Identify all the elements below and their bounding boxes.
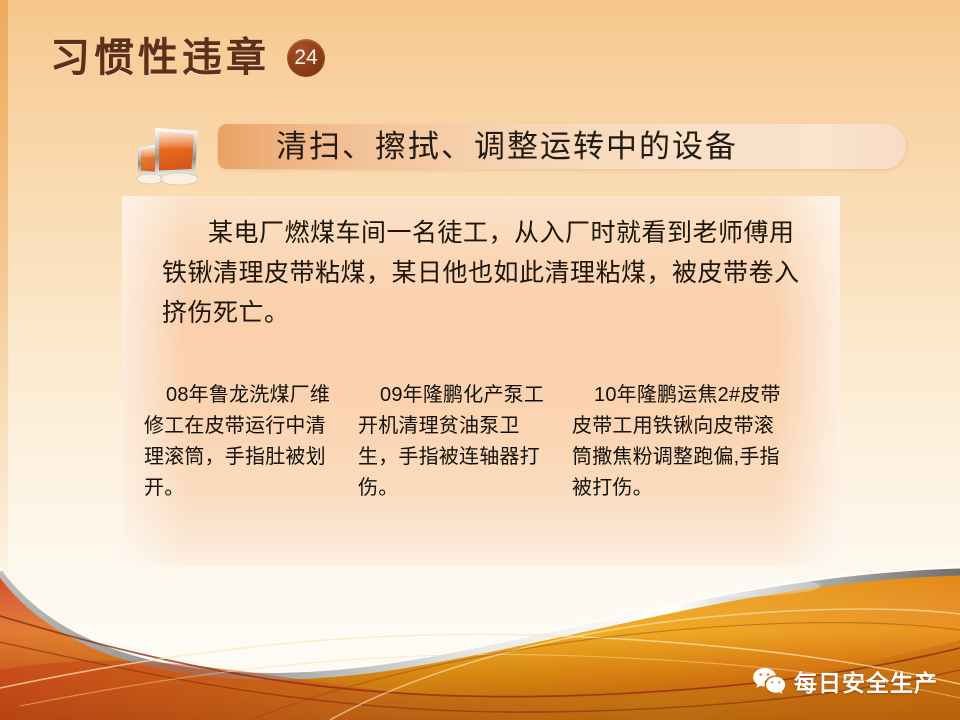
case-columns: 08年鲁龙洗煤厂维修工在皮带运行中清理滚筒，手指肚被划开。 09年隆鹏化产泵工开… bbox=[144, 380, 822, 504]
left-edge-accent-strip bbox=[0, 0, 8, 600]
case-item-1: 08年鲁龙洗煤厂维修工在皮带运行中清理滚筒，手指肚被划开。 bbox=[144, 380, 340, 504]
wechat-icon bbox=[752, 667, 786, 695]
watermark-label: 每日安全生产 bbox=[794, 664, 938, 698]
glossy-screens-icon bbox=[130, 118, 204, 188]
banner-heading: 清扫、擦拭、调整运转中的设备 bbox=[276, 128, 738, 166]
intro-paragraph: 某电厂燃煤车间一名徒工，从入厂时就看到老师傅用铁锹清理皮带粘煤，某日他也如此清理… bbox=[162, 214, 802, 334]
watermark: 每日安全生产 bbox=[752, 664, 938, 698]
banner-row: 清扫、擦拭、调整运转中的设备 bbox=[130, 116, 830, 188]
status-badge: 24 bbox=[287, 39, 325, 77]
slide-header: 习惯性违章 24 bbox=[50, 38, 325, 78]
case-item-3: 10年隆鹏运焦2#皮带皮带工用铁锹向皮带滚筒撒焦粉调整跑偏,手指被打伤。 bbox=[572, 380, 786, 504]
page-title: 习惯性违章 bbox=[50, 38, 270, 78]
content-panel: 某电厂燃煤车间一名徒工，从入厂时就看到老师傅用铁锹清理皮带粘煤，某日他也如此清理… bbox=[122, 196, 840, 566]
case-item-2: 09年隆鹏化产泵工开机清理贫油泵卫生，手指被连轴器打伤。 bbox=[358, 380, 554, 504]
slide-canvas: 习惯性违章 24 bbox=[0, 0, 960, 720]
